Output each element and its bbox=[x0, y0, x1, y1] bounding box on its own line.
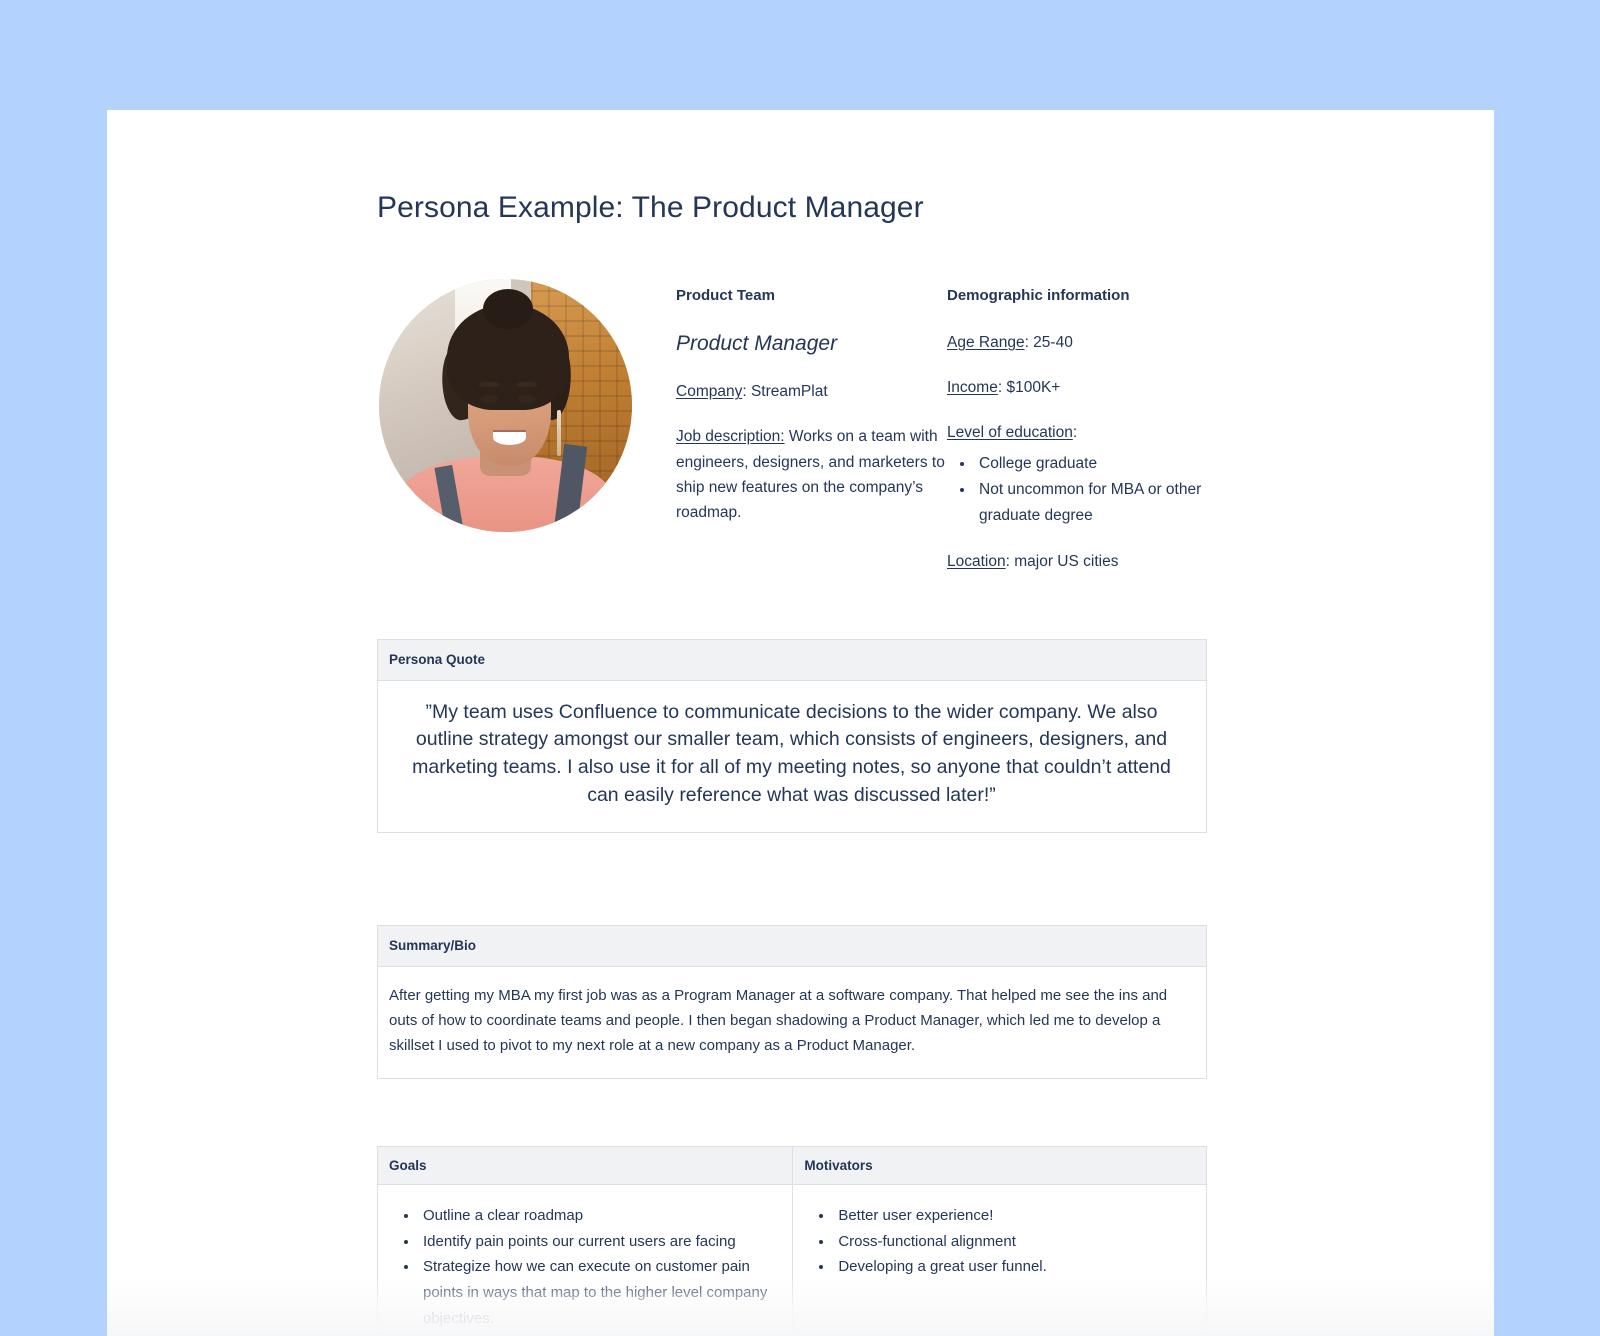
table-row: Outline a clear roadmap Identify pain po… bbox=[378, 1184, 1207, 1336]
persona-quote-section: Persona Quote ”My team uses Confluence t… bbox=[377, 639, 1207, 833]
goals-list: Outline a clear roadmap Identify pain po… bbox=[389, 1203, 780, 1336]
list-item: Cross-functional alignment bbox=[834, 1229, 1194, 1255]
age-range-value: : 25-40 bbox=[1025, 334, 1073, 351]
job-description-line: Job description: Works on a team with en… bbox=[676, 424, 946, 524]
age-range-label: Age Range bbox=[947, 334, 1025, 351]
avatar-brow-left bbox=[479, 382, 499, 387]
list-item: College graduate bbox=[975, 451, 1207, 477]
location-label: Location bbox=[947, 553, 1006, 570]
avatar-hair-bun bbox=[483, 289, 534, 329]
company-label: Company bbox=[676, 383, 742, 400]
list-item: Better user experience! bbox=[834, 1203, 1194, 1229]
goals-column-header: Goals bbox=[378, 1146, 793, 1184]
avatar-eye-left bbox=[480, 395, 498, 403]
motivators-list: Better user experience! Cross-functional… bbox=[804, 1203, 1194, 1280]
avatar-column bbox=[377, 279, 676, 532]
motivators-cell: Better user experience! Cross-functional… bbox=[793, 1184, 1207, 1336]
list-item: Facilitate a smooth handoff between cros… bbox=[419, 1332, 780, 1336]
demographics-heading: Demographic information bbox=[947, 286, 1207, 306]
avatar-earring bbox=[557, 410, 561, 456]
page-title: Persona Example: The Product Manager bbox=[377, 110, 1207, 227]
location-value: : major US cities bbox=[1006, 553, 1119, 570]
avatar bbox=[379, 279, 632, 532]
summary-bio-body: After getting my MBA my first job was as… bbox=[378, 967, 1206, 1078]
summary-bio-section: Summary/Bio After getting my MBA my firs… bbox=[377, 925, 1207, 1079]
job-description-label: Job description: bbox=[676, 428, 785, 445]
goals-motivators-table: Goals Motivators Outline a clear roadmap… bbox=[377, 1146, 1207, 1336]
document-page: Persona Example: The Product Manager bbox=[107, 110, 1494, 1336]
company-line: Company: StreamPlat bbox=[676, 379, 946, 404]
avatar-brow-right bbox=[517, 382, 537, 387]
persona-overview-row: Product Team Product Manager Company: St… bbox=[377, 279, 1207, 575]
income-value: : $100K+ bbox=[998, 379, 1060, 396]
list-item: Strategize how we can execute on custome… bbox=[419, 1254, 780, 1331]
education-label: Level of education bbox=[947, 424, 1073, 441]
income-label: Income bbox=[947, 379, 998, 396]
income-line: Income: $100K+ bbox=[947, 375, 1207, 400]
persona-quote-body: ”My team uses Confluence to communicate … bbox=[378, 681, 1206, 832]
list-item: Identify pain points our current users a… bbox=[419, 1229, 780, 1255]
summary-bio-text: After getting my MBA my first job was as… bbox=[389, 981, 1194, 1062]
education-list: College graduate Not uncommon for MBA or… bbox=[947, 451, 1207, 529]
age-range-line: Age Range: 25-40 bbox=[947, 330, 1207, 355]
location-line: Location: major US cities bbox=[947, 549, 1207, 574]
product-team-column: Product Team Product Manager Company: St… bbox=[676, 279, 946, 525]
persona-quote-box: Persona Quote ”My team uses Confluence t… bbox=[377, 639, 1207, 833]
table-header-row: Goals Motivators bbox=[378, 1146, 1207, 1184]
education-value: : bbox=[1073, 424, 1077, 441]
document-content: Persona Example: The Product Manager bbox=[377, 110, 1207, 1336]
product-team-heading: Product Team bbox=[676, 286, 946, 306]
persona-quote-text: ”My team uses Confluence to communicate … bbox=[389, 695, 1194, 816]
demographics-column: Demographic information Age Range: 25-40… bbox=[946, 279, 1207, 575]
summary-bio-box: Summary/Bio After getting my MBA my firs… bbox=[377, 925, 1207, 1079]
persona-role: Product Manager bbox=[676, 330, 946, 357]
list-item: Outline a clear roadmap bbox=[419, 1203, 780, 1229]
summary-bio-heading: Summary/Bio bbox=[378, 926, 1206, 967]
company-value: : StreamPlat bbox=[742, 383, 827, 400]
persona-quote-heading: Persona Quote bbox=[378, 640, 1206, 681]
goals-motivators-section: Goals Motivators Outline a clear roadmap… bbox=[377, 1146, 1207, 1336]
motivators-column-header: Motivators bbox=[793, 1146, 1207, 1184]
goals-cell: Outline a clear roadmap Identify pain po… bbox=[378, 1184, 793, 1336]
avatar-eye-right bbox=[518, 395, 536, 403]
education-line: Level of education: bbox=[947, 420, 1207, 445]
list-item: Developing a great user funnel. bbox=[834, 1254, 1194, 1280]
list-item: Not uncommon for MBA or other graduate d… bbox=[975, 477, 1207, 529]
